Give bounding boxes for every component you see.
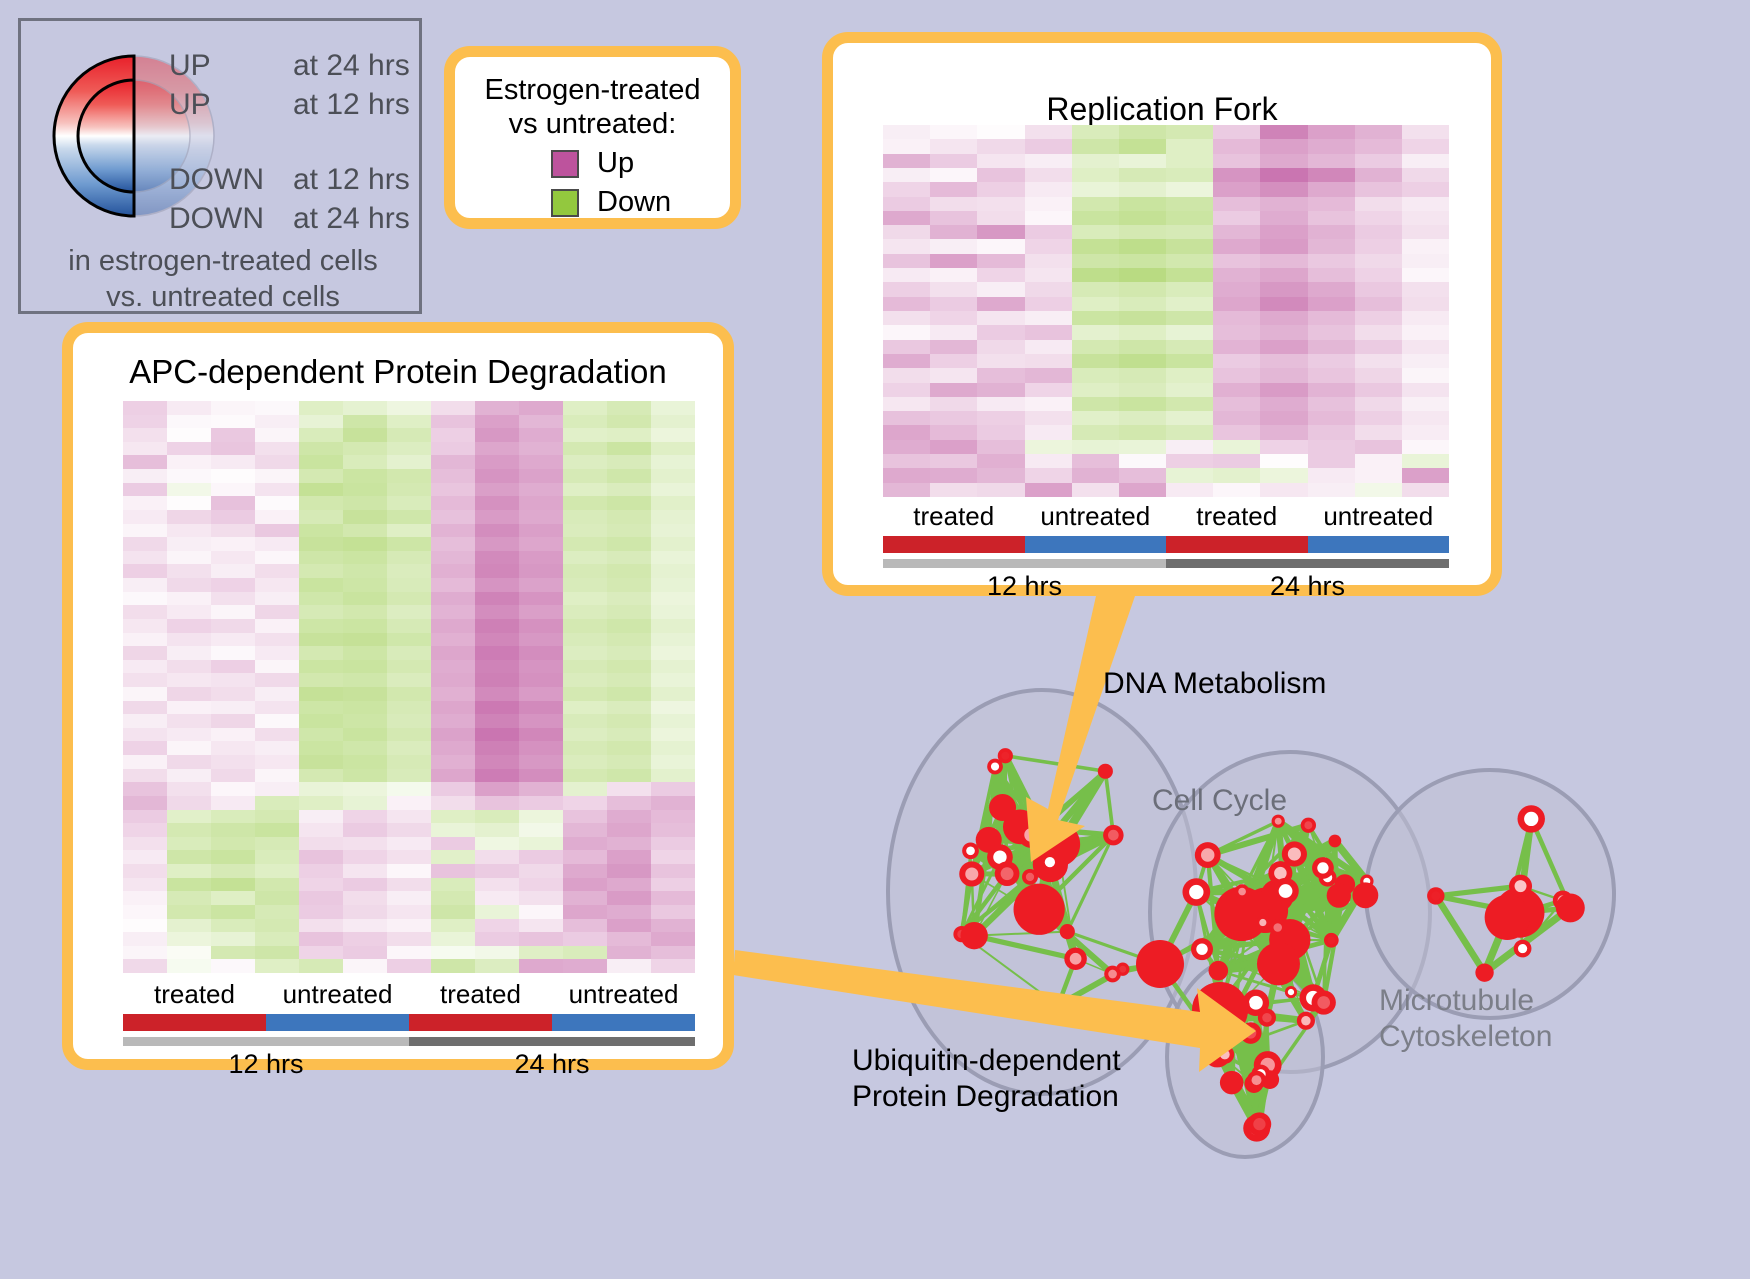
heat-cell <box>930 468 977 482</box>
network-node[interactable] <box>1064 947 1087 970</box>
heat-cell <box>651 932 695 946</box>
ring-row-key: UP <box>169 88 293 122</box>
heat-cell <box>1072 168 1119 182</box>
heat-cell <box>255 483 299 497</box>
heat-cell <box>563 401 607 415</box>
heat-cell <box>1119 354 1166 368</box>
heat-cell <box>1119 254 1166 268</box>
network-node[interactable] <box>1258 1009 1276 1027</box>
heat-cell <box>475 946 519 960</box>
heat-cell <box>123 510 167 524</box>
heat-cell <box>977 139 1024 153</box>
heat-cell <box>651 592 695 606</box>
network-node[interactable] <box>1192 982 1248 1038</box>
heat-cell <box>299 605 343 619</box>
heat-cell <box>167 891 211 905</box>
node-inner-core <box>1274 867 1287 880</box>
condition-bar-segment <box>1308 536 1450 553</box>
heat-cell <box>651 455 695 469</box>
heat-cell <box>211 646 255 660</box>
network-node[interactable] <box>1270 919 1286 935</box>
heat-cell <box>1025 340 1072 354</box>
heat-cell <box>387 673 431 687</box>
heat-cell <box>1260 182 1307 196</box>
heat-cell <box>387 592 431 606</box>
down-label: Down <box>597 186 671 219</box>
heat-cell <box>255 660 299 674</box>
heat-cell <box>1213 425 1260 439</box>
heat-cell <box>255 905 299 919</box>
heat-cell <box>563 850 607 864</box>
heat-cell <box>563 878 607 892</box>
heat-cell <box>563 755 607 769</box>
network-node[interactable] <box>1427 887 1444 904</box>
heat-cell <box>343 905 387 919</box>
heat-cell <box>1308 225 1355 239</box>
heat-cell <box>255 701 299 715</box>
heat-cell <box>387 619 431 633</box>
heat-cell <box>1260 125 1307 139</box>
heat-cell <box>431 946 475 960</box>
heat-cell <box>387 415 431 429</box>
heat-cell <box>255 782 299 796</box>
network-node[interactable] <box>1514 940 1532 958</box>
heat-cell <box>475 455 519 469</box>
heat-cell <box>1072 268 1119 282</box>
cluster-label-ubiquitin: Ubiquitin-dependent Protein Degradation <box>852 1043 1121 1115</box>
heat-cell <box>255 524 299 538</box>
heat-cell <box>519 415 563 429</box>
heat-cell <box>431 510 475 524</box>
heat-cell <box>123 714 167 728</box>
network-node[interactable] <box>1285 986 1297 998</box>
heat-cell <box>607 660 651 674</box>
heat-cell <box>299 850 343 864</box>
heat-cell <box>475 878 519 892</box>
heat-cell <box>299 701 343 715</box>
heat-cell <box>387 455 431 469</box>
heat-cell <box>651 660 695 674</box>
heat-cell <box>387 537 431 551</box>
heat-cell <box>211 455 255 469</box>
heat-cell <box>123 496 167 510</box>
heat-cell <box>930 397 977 411</box>
heat-cell <box>475 755 519 769</box>
heat-cell <box>930 425 977 439</box>
ring-row-value: at 24 hrs <box>293 202 410 236</box>
heat-cell <box>1402 340 1449 354</box>
heat-cell <box>211 619 255 633</box>
network-node[interactable] <box>1509 875 1532 898</box>
network-node[interactable] <box>1301 818 1316 833</box>
heat-cell <box>387 823 431 837</box>
heat-cell <box>387 905 431 919</box>
node-outer-ring <box>961 922 988 949</box>
network-node[interactable] <box>1195 842 1221 868</box>
heat-cell <box>1260 454 1307 468</box>
heat-cell <box>211 592 255 606</box>
heat-cell <box>123 401 167 415</box>
heat-cell <box>1213 340 1260 354</box>
heat-cell <box>255 891 299 905</box>
heat-cell <box>977 297 1024 311</box>
heat-cell <box>1166 397 1213 411</box>
heat-cell <box>387 660 431 674</box>
heat-cell <box>211 551 255 565</box>
heat-cell <box>519 850 563 864</box>
node-inner-core <box>1189 885 1203 899</box>
heat-cell <box>211 919 255 933</box>
heat-cell <box>343 469 387 483</box>
heat-cell <box>1355 483 1402 497</box>
node-outer-ring <box>1136 940 1184 988</box>
network-node[interactable] <box>1312 990 1336 1014</box>
heat-cell <box>519 619 563 633</box>
heat-cell <box>1072 325 1119 339</box>
heat-cell <box>1072 182 1119 196</box>
heat-cell <box>475 510 519 524</box>
network-node[interactable] <box>1022 869 1038 885</box>
heat-cell <box>651 701 695 715</box>
heat-cell <box>211 782 255 796</box>
heat-cell <box>563 510 607 524</box>
heat-cell <box>607 919 651 933</box>
heat-cell <box>519 701 563 715</box>
heat-cell <box>343 959 387 973</box>
heat-cell <box>563 728 607 742</box>
heat-cell <box>387 496 431 510</box>
heat-cell <box>1402 425 1449 439</box>
heat-cell <box>607 837 651 851</box>
heat-cell <box>387 551 431 565</box>
heat-cell <box>167 415 211 429</box>
heat-cell <box>343 810 387 824</box>
heat-cell <box>343 619 387 633</box>
heat-cell <box>930 297 977 311</box>
heat-cell <box>387 878 431 892</box>
node-outer-ring <box>1327 883 1351 907</box>
network-node[interactable] <box>1247 1071 1266 1090</box>
heat-cell <box>475 605 519 619</box>
network-node[interactable] <box>1257 942 1300 985</box>
heat-cell <box>387 564 431 578</box>
node-inner-core <box>1262 1013 1271 1022</box>
heat-cell <box>123 646 167 660</box>
heat-cell <box>651 850 695 864</box>
heat-cell <box>1308 411 1355 425</box>
heat-cell <box>563 796 607 810</box>
node-outer-ring <box>1556 893 1585 922</box>
heat-cell <box>211 401 255 415</box>
network-node[interactable] <box>1352 882 1378 908</box>
heat-cell <box>651 946 695 960</box>
heat-cell <box>651 810 695 824</box>
heat-cell <box>1119 425 1166 439</box>
network-node[interactable] <box>1485 895 1530 940</box>
heat-cell <box>343 578 387 592</box>
heat-cell <box>167 428 211 442</box>
heat-cell <box>651 673 695 687</box>
heat-cell <box>167 810 211 824</box>
heat-cell <box>651 796 695 810</box>
heat-cell <box>1260 483 1307 497</box>
heat-cell <box>1166 254 1213 268</box>
network-node[interactable] <box>1272 878 1298 904</box>
heat-cell <box>519 483 563 497</box>
heat-cell <box>299 728 343 742</box>
heat-cell <box>255 687 299 701</box>
heat-cell <box>651 687 695 701</box>
heat-cell <box>1260 425 1307 439</box>
heat-cell <box>1072 225 1119 239</box>
network-node[interactable] <box>1104 966 1121 983</box>
heat-cell <box>1260 282 1307 296</box>
node-inner-core <box>1108 970 1117 979</box>
network-node[interactable] <box>1312 857 1334 879</box>
heat-cell <box>519 891 563 905</box>
node-inner-core <box>1026 873 1034 881</box>
heat-cell <box>1166 368 1213 382</box>
heat-cell <box>977 211 1024 225</box>
heat-cell <box>123 755 167 769</box>
network-node[interactable] <box>1235 884 1250 899</box>
heat-cell <box>211 673 255 687</box>
heat-cell <box>299 959 343 973</box>
heat-cell <box>343 415 387 429</box>
heat-cell <box>651 578 695 592</box>
network-node[interactable] <box>1014 884 1065 935</box>
heat-cell <box>1072 425 1119 439</box>
heat-cell <box>563 673 607 687</box>
heat-cell <box>930 225 977 239</box>
heat-cell <box>883 325 930 339</box>
heat-cell <box>1402 125 1449 139</box>
heat-cell <box>977 125 1024 139</box>
heat-cell <box>930 282 977 296</box>
heat-cell <box>299 878 343 892</box>
heat-cell <box>387 946 431 960</box>
network-node[interactable] <box>959 861 984 886</box>
heat-cell <box>299 919 343 933</box>
heat-cell <box>519 605 563 619</box>
network-node[interactable] <box>1039 832 1056 849</box>
network-node[interactable] <box>1248 1112 1272 1136</box>
heat-cell <box>883 454 930 468</box>
heat-cell <box>299 660 343 674</box>
heat-cell <box>1072 154 1119 168</box>
heat-cell <box>167 537 211 551</box>
heat-cell <box>431 837 475 851</box>
heat-cell <box>123 823 167 837</box>
heat-cell <box>123 455 167 469</box>
heat-cell <box>1166 297 1213 311</box>
network-node[interactable] <box>1103 825 1124 846</box>
heat-cell <box>211 891 255 905</box>
heat-cell <box>211 510 255 524</box>
heat-cell <box>475 837 519 851</box>
heat-cell <box>1025 197 1072 211</box>
heat-cell <box>1308 282 1355 296</box>
network-node[interactable] <box>1518 805 1545 832</box>
heat-cell <box>519 796 563 810</box>
heat-cell <box>1119 197 1166 211</box>
updown-title-line-2: vs untreated: <box>455 107 730 141</box>
heat-cell <box>167 633 211 647</box>
heat-cell <box>211 469 255 483</box>
network-node[interactable] <box>1182 878 1210 906</box>
node-outer-ring <box>1220 1071 1244 1095</box>
heat-cell <box>475 646 519 660</box>
heat-cell <box>1308 383 1355 397</box>
heat-cell <box>123 932 167 946</box>
network-node[interactable] <box>1051 998 1065 1012</box>
network-node[interactable] <box>1220 1071 1244 1095</box>
network-node[interactable] <box>1297 1012 1315 1030</box>
heat-cell <box>1119 397 1166 411</box>
heat-cell <box>1119 225 1166 239</box>
heat-cell <box>123 810 167 824</box>
heat-cell <box>519 455 563 469</box>
network-node[interactable] <box>1098 764 1113 779</box>
replication-fork-axis: treateduntreatedtreateduntreated 12 hrs2… <box>883 501 1449 602</box>
heat-cell <box>1213 397 1260 411</box>
heat-cell <box>930 125 977 139</box>
heat-cell <box>1402 297 1449 311</box>
heat-cell <box>1355 125 1402 139</box>
network-node[interactable] <box>1060 924 1075 939</box>
network-node[interactable] <box>1556 893 1585 922</box>
heat-cell <box>431 959 475 973</box>
heat-cell <box>299 782 343 796</box>
network-node[interactable] <box>1324 933 1339 948</box>
heat-cell <box>1166 354 1213 368</box>
ring-row-3: DOWN at 24 hrs <box>169 202 419 241</box>
heat-cell <box>519 714 563 728</box>
heat-cell <box>167 660 211 674</box>
heat-cell <box>1213 311 1260 325</box>
heat-cell <box>255 537 299 551</box>
heat-cell <box>977 225 1024 239</box>
heat-cell <box>1402 483 1449 497</box>
network-node[interactable] <box>995 861 1020 886</box>
node-inner-core <box>1245 1027 1256 1038</box>
heat-cell <box>167 932 211 946</box>
heat-cell <box>167 605 211 619</box>
heat-cell <box>1119 411 1166 425</box>
network-node[interactable] <box>1040 852 1060 872</box>
network-node[interactable] <box>1215 1045 1234 1064</box>
heat-cell <box>1025 211 1072 225</box>
heat-cell <box>1355 311 1402 325</box>
network-node[interactable] <box>998 748 1013 763</box>
heat-cell <box>563 619 607 633</box>
heat-cell <box>883 297 930 311</box>
heat-cell <box>123 428 167 442</box>
heat-cell <box>1166 468 1213 482</box>
network-node[interactable] <box>1191 938 1213 960</box>
network-node[interactable] <box>1209 961 1229 981</box>
heat-cell <box>1166 211 1213 225</box>
heat-cell <box>563 810 607 824</box>
heat-cell <box>431 878 475 892</box>
heat-cell <box>211 428 255 442</box>
network-node[interactable] <box>1282 841 1307 866</box>
heat-cell <box>475 769 519 783</box>
network-node[interactable] <box>962 842 979 859</box>
heat-cell <box>1119 483 1166 497</box>
heat-cell <box>255 755 299 769</box>
network-node[interactable] <box>989 794 1016 821</box>
heat-cell <box>563 959 607 973</box>
heat-cell <box>343 701 387 715</box>
node-inner-core <box>1273 923 1282 932</box>
condition-bar-segment <box>409 1014 552 1031</box>
network-node[interactable] <box>1136 940 1184 988</box>
heat-cell <box>1119 239 1166 253</box>
network-node[interactable] <box>1475 963 1493 981</box>
condition-label: treated <box>409 979 552 1010</box>
heat-cell <box>211 755 255 769</box>
timepoint-labels: 12 hrs24 hrs <box>123 1049 695 1080</box>
node-outer-ring <box>1060 924 1075 939</box>
heat-cell <box>299 673 343 687</box>
heat-cell <box>1213 182 1260 196</box>
heat-cell <box>651 769 695 783</box>
heat-cell <box>883 340 930 354</box>
network-node[interactable] <box>961 922 988 949</box>
heat-cell <box>1025 354 1072 368</box>
heat-cell <box>607 510 651 524</box>
heat-cell <box>255 510 299 524</box>
up-color-swatch <box>551 150 579 178</box>
heat-cell <box>1119 154 1166 168</box>
heat-cell <box>1213 211 1260 225</box>
heat-cell <box>651 605 695 619</box>
heat-cell <box>1402 182 1449 196</box>
heat-cell <box>1260 397 1307 411</box>
heat-cell <box>1025 297 1072 311</box>
heat-cell <box>930 168 977 182</box>
network-node[interactable] <box>1256 916 1270 930</box>
heat-cell <box>167 401 211 415</box>
heat-cell <box>167 946 211 960</box>
heat-cell <box>607 959 651 973</box>
heat-cell <box>211 524 255 538</box>
heat-cell <box>299 537 343 551</box>
heat-cell <box>607 619 651 633</box>
heat-cell <box>607 946 651 960</box>
condition-color-bar <box>123 1014 695 1031</box>
network-node[interactable] <box>1327 883 1351 907</box>
condition-label: untreated <box>266 979 409 1010</box>
heat-cell <box>1308 125 1355 139</box>
heat-cell <box>519 769 563 783</box>
heat-cell <box>1260 411 1307 425</box>
heat-cell <box>211 701 255 715</box>
heat-cell <box>211 564 255 578</box>
heat-cell <box>1355 383 1402 397</box>
heat-cell <box>167 919 211 933</box>
heat-cell <box>431 864 475 878</box>
heat-cell <box>1355 325 1402 339</box>
heat-cell <box>255 878 299 892</box>
heat-cell <box>431 782 475 796</box>
network-node[interactable] <box>1329 835 1342 848</box>
heat-cell <box>1260 239 1307 253</box>
heat-cell <box>167 483 211 497</box>
heat-cell <box>1213 125 1260 139</box>
condition-color-bar <box>883 536 1449 553</box>
